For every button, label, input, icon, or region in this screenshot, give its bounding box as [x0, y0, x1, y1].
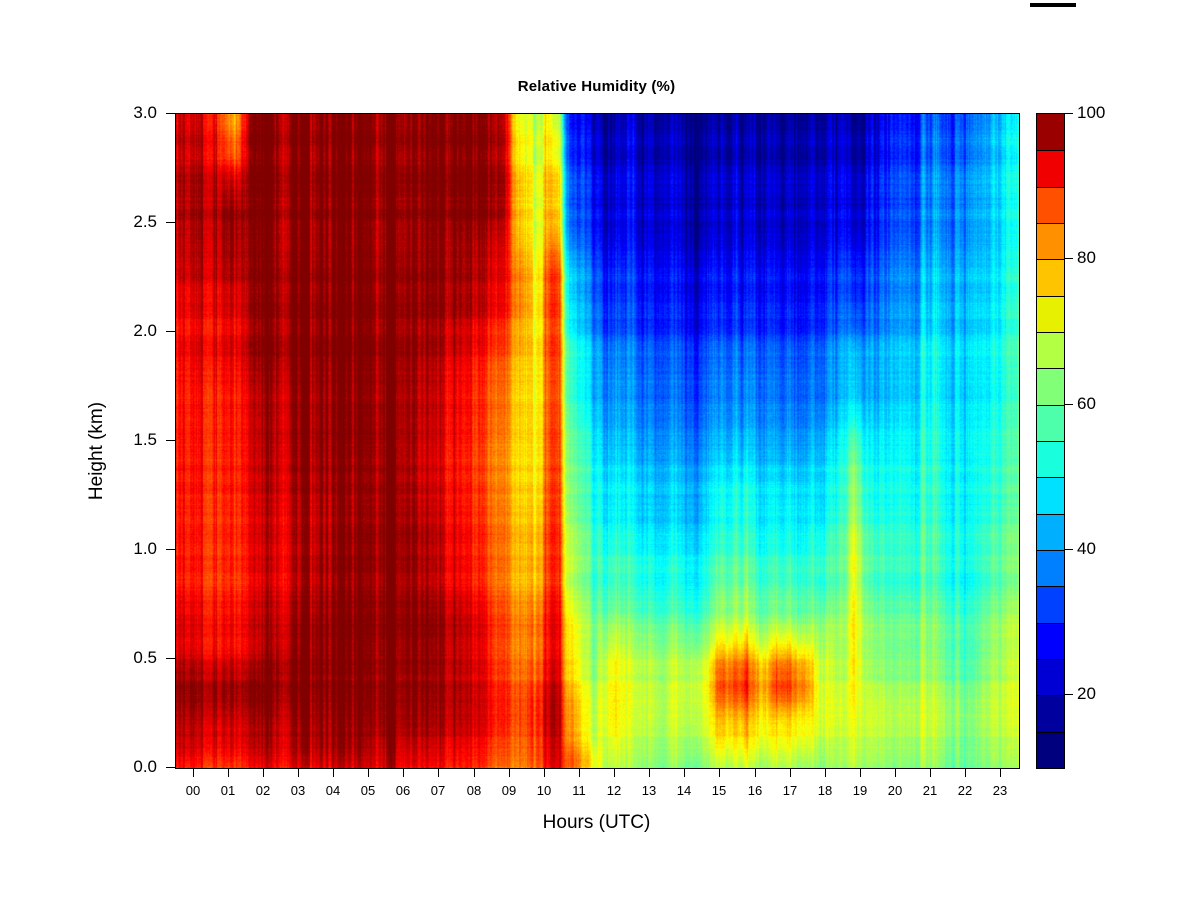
x-axis-tick [368, 768, 369, 777]
x-axis-tick-label: 10 [537, 783, 551, 798]
x-axis-tick [438, 768, 439, 777]
x-axis-tick-label: 14 [677, 783, 691, 798]
x-axis-tick-label: 22 [958, 783, 972, 798]
x-axis-tick-label: 13 [642, 783, 656, 798]
x-axis-tick [333, 768, 334, 777]
x-axis-tick-label: 23 [993, 783, 1007, 798]
y-axis-tick [166, 549, 175, 550]
y-axis-tick [166, 767, 175, 768]
x-axis-tick-label: 03 [291, 783, 305, 798]
colorbar-tick-label: 80 [1077, 248, 1096, 268]
colorbar [1036, 113, 1065, 769]
x-axis-tick [895, 768, 896, 777]
page-title: Relative Humidity (%) [175, 78, 1018, 95]
x-axis-tick [755, 768, 756, 777]
heatmap-plot-area [175, 113, 1020, 769]
y-axis-tick [166, 440, 175, 441]
x-axis-tick [403, 768, 404, 777]
x-axis-tick-label: 11 [572, 783, 586, 798]
x-axis-tick-label: 18 [818, 783, 832, 798]
x-axis-tick-label: 04 [326, 783, 340, 798]
colorbar-block [1037, 659, 1064, 695]
x-axis-tick [509, 768, 510, 777]
x-axis-tick-label: 05 [361, 783, 375, 798]
colorbar-block [1037, 695, 1064, 731]
y-axis-tick-label: 1.0 [85, 539, 157, 559]
y-axis-title: Height (km) [86, 402, 108, 500]
y-axis-tick-label: 2.0 [85, 321, 157, 341]
x-axis-tick [719, 768, 720, 777]
y-axis-tick-label: 3.0 [85, 103, 157, 123]
x-axis-tick-label: 21 [923, 783, 937, 798]
colorbar-block [1037, 550, 1064, 586]
x-axis-tick [684, 768, 685, 777]
x-axis-tick-label: 00 [186, 783, 200, 798]
colorbar-block [1037, 405, 1064, 441]
x-axis-tick [825, 768, 826, 777]
y-axis-tick [166, 658, 175, 659]
x-axis-tick-label: 08 [467, 783, 481, 798]
x-axis-title: Hours (UTC) [175, 812, 1018, 834]
colorbar-block [1037, 623, 1064, 659]
x-axis-tick [860, 768, 861, 777]
x-axis-tick-label: 16 [748, 783, 762, 798]
colorbar-block [1037, 514, 1064, 550]
relative-humidity-figure: Relative Humidity (%) 0.00.51.01.52.02.5… [0, 0, 1200, 900]
colorbar-block [1037, 477, 1064, 513]
x-axis-tick-label: 15 [712, 783, 726, 798]
colorbar-block [1037, 150, 1064, 186]
x-axis-tick-label: 17 [783, 783, 797, 798]
x-axis-tick-label: 12 [607, 783, 621, 798]
x-axis-tick [228, 768, 229, 777]
x-axis-tick-label: 06 [396, 783, 410, 798]
colorbar-tick [1064, 113, 1073, 114]
y-axis-tick-label: 0.5 [85, 648, 157, 668]
colorbar-block [1037, 368, 1064, 404]
x-axis-tick [193, 768, 194, 777]
x-axis-tick [263, 768, 264, 777]
x-axis-tick [614, 768, 615, 777]
y-axis-tick [166, 113, 175, 114]
colorbar-tick [1064, 694, 1073, 695]
y-axis-tick [166, 222, 175, 223]
heatmap-canvas [176, 114, 1019, 768]
crop-artifact [1030, 3, 1076, 7]
x-axis-tick-label: 09 [502, 783, 516, 798]
colorbar-block [1037, 259, 1064, 295]
x-axis-tick-label: 20 [888, 783, 902, 798]
colorbar-block [1037, 441, 1064, 477]
colorbar-block [1037, 586, 1064, 622]
colorbar-block [1037, 114, 1064, 150]
y-axis-tick [166, 331, 175, 332]
y-axis-tick-label: 0.0 [85, 757, 157, 777]
x-axis-tick-label: 02 [256, 783, 270, 798]
colorbar-tick-label: 20 [1077, 684, 1096, 704]
colorbar-tick [1064, 258, 1073, 259]
x-axis-tick [1000, 768, 1001, 777]
colorbar-tick-label: 100 [1077, 103, 1105, 123]
x-axis-tick [965, 768, 966, 777]
x-axis-tick-label: 07 [431, 783, 445, 798]
x-axis-tick-label: 01 [221, 783, 235, 798]
x-axis-tick [649, 768, 650, 777]
x-axis-tick-label: 19 [853, 783, 867, 798]
colorbar-tick [1064, 549, 1073, 550]
colorbar-tick-label: 40 [1077, 539, 1096, 559]
colorbar-block [1037, 296, 1064, 332]
x-axis-tick [544, 768, 545, 777]
colorbar-tick [1064, 404, 1073, 405]
colorbar-tick-label: 60 [1077, 394, 1096, 414]
colorbar-block [1037, 187, 1064, 223]
colorbar-block [1037, 332, 1064, 368]
x-axis-tick [790, 768, 791, 777]
y-axis-tick-label: 2.5 [85, 212, 157, 232]
x-axis-tick [474, 768, 475, 777]
colorbar-block [1037, 732, 1064, 768]
x-axis-tick [930, 768, 931, 777]
colorbar-block [1037, 223, 1064, 259]
x-axis-tick [579, 768, 580, 777]
x-axis-tick [298, 768, 299, 777]
